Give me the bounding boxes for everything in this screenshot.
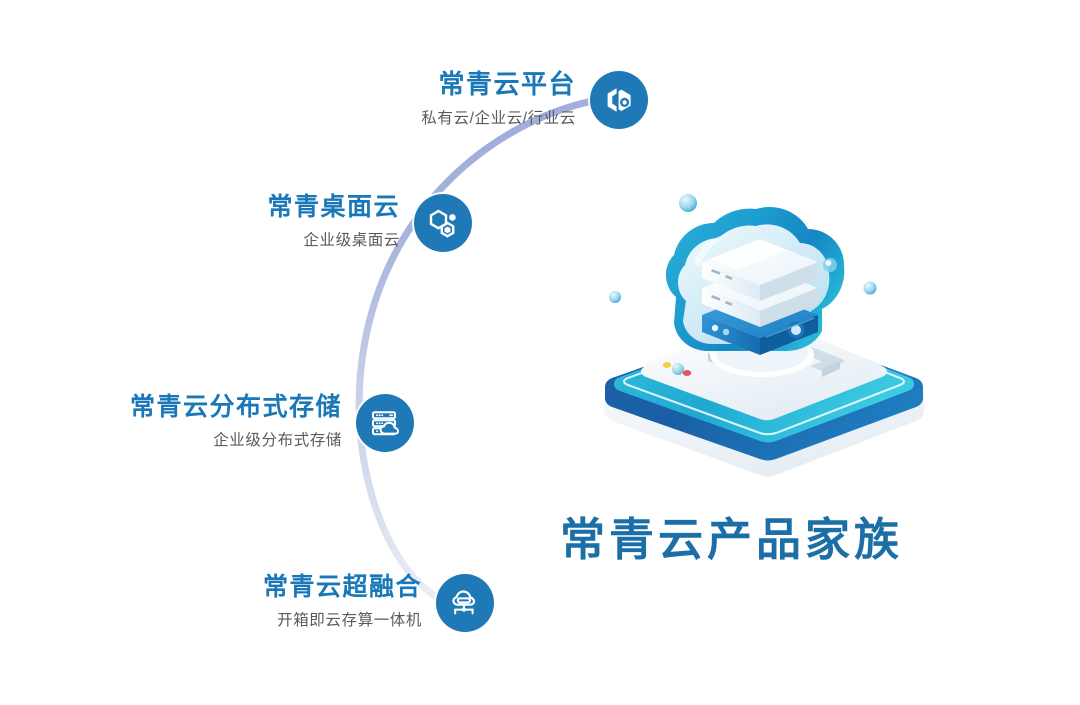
product-node-hci[interactable]: 常青云超融合 开箱即云存算一体机	[0, 572, 494, 634]
cloud-platform-hexagon-icon[interactable]	[590, 71, 648, 129]
page-title: 常青云产品家族	[560, 503, 960, 568]
product-node-storage-title: 常青云分布式存储	[130, 392, 342, 423]
product-node-platform[interactable]: 常青云平台 私有云/企业云/行业云	[0, 68, 648, 131]
product-node-hci-title: 常青云超融合	[263, 572, 422, 603]
hexagon-molecule-icon[interactable]	[414, 194, 472, 252]
indicator-dot-red	[683, 370, 691, 376]
product-node-hci-subtitle: 开箱即云存算一体机	[277, 609, 422, 634]
product-node-desktop-title: 常青桌面云	[267, 192, 400, 223]
product-node-platform-text: 常青云平台 私有云/企业云/行业云	[421, 68, 576, 131]
cloud-network-node-icon[interactable]	[436, 574, 494, 632]
server-cloud-storage-icon[interactable]	[356, 394, 414, 452]
cloud-servers-on-platform-3d	[590, 175, 930, 495]
product-node-platform-title: 常青云平台	[438, 68, 576, 101]
infographic-canvas: 常青云平台 私有云/企业云/行业云 常青桌面云 企业级桌面云	[0, 0, 1080, 705]
cloud-with-servers	[666, 207, 844, 355]
indicator-dot-yellow	[663, 362, 671, 368]
product-node-desktop-subtitle: 企业级桌面云	[303, 229, 400, 254]
product-node-storage-subtitle: 企业级分布式存储	[213, 429, 342, 454]
product-node-hci-text: 常青云超融合 开箱即云存算一体机	[263, 572, 422, 634]
product-node-desktop-text: 常青桌面云 企业级桌面云	[267, 192, 400, 254]
product-node-storage-text: 常青云分布式存储 企业级分布式存储	[130, 392, 342, 454]
product-node-storage[interactable]: 常青云分布式存储 企业级分布式存储	[0, 392, 414, 454]
product-node-platform-subtitle: 私有云/企业云/行业云	[421, 107, 576, 132]
product-node-desktop[interactable]: 常青桌面云 企业级桌面云	[0, 192, 472, 254]
